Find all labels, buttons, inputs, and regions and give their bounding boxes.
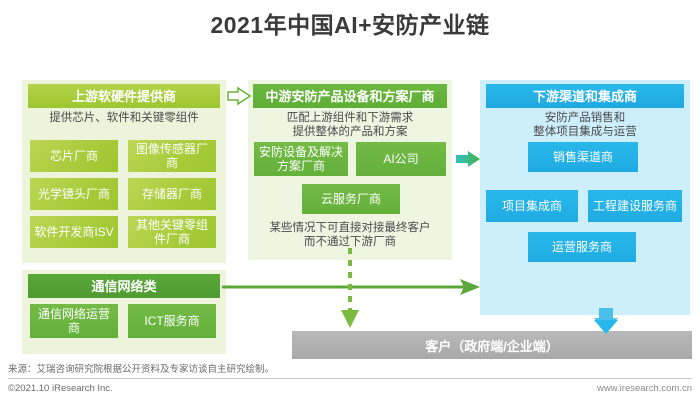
telecom-item-network-operators[interactable]: 通信网络运营商 — [30, 304, 118, 338]
arrow-upstream-to-midstream — [228, 88, 250, 104]
midstream-item-security-equipment-solutions[interactable]: 安防设备及解决方案厂商 — [254, 142, 348, 176]
upstream-item-optical-lens-vendors[interactable]: 光学镜头厂商 — [30, 178, 118, 210]
midstream-item-cloud-service-vendors[interactable]: 云服务厂商 — [302, 184, 400, 214]
upstream-item-storage-vendors[interactable]: 存储器厂商 — [128, 178, 216, 210]
upstream-header: 上游软硬件提供商 — [28, 84, 220, 108]
infographic-canvas: 2021年中国AI+安防产业链 上游软硬件提供商 提供芯片、软件和关键零组件 芯… — [0, 0, 700, 407]
downstream-item-sales-channels[interactable]: 销售渠道商 — [528, 142, 638, 172]
downstream-item-operation-services[interactable]: 运营服务商 — [528, 232, 636, 262]
website-text: www.iresearch.com.cn — [597, 383, 692, 394]
upstream-item-other-components[interactable]: 其他关键零组件厂商 — [128, 216, 216, 248]
upstream-item-image-sensor-vendors[interactable]: 图像传感器厂商 — [128, 140, 216, 172]
arrow-midstream-to-downstream — [456, 151, 480, 167]
source-note: 来源：艾瑞咨询研究院根据公开资料及专家访谈自主研究绘制。 — [8, 361, 274, 375]
midstream-note: 某些情况下可直接对接最终客户而不通过下游厂商 — [250, 221, 450, 249]
upstream-item-chip-vendors[interactable]: 芯片厂商 — [30, 140, 118, 172]
telecom-item-ict-providers[interactable]: ICT服务商 — [128, 304, 216, 338]
arrow-midstream-to-customer-dashed — [341, 248, 359, 328]
page-title: 2021年中国AI+安防产业链 — [0, 8, 700, 42]
downstream-header: 下游渠道和集成商 — [486, 84, 684, 108]
midstream-subtitle: 匹配上游组件和下游需求提供整体的产品和方案 — [250, 111, 450, 139]
upstream-subtitle: 提供芯片、软件和关键零组件 — [24, 111, 224, 125]
downstream-item-engineering-services[interactable]: 工程建设服务商 — [588, 190, 682, 222]
footer-divider — [8, 378, 692, 379]
customer-bar: 客户（政府端/企业端） — [292, 331, 692, 359]
midstream-header: 中游安防产品设备和方案厂商 — [253, 84, 447, 108]
copyright-text: ©2021.10 iResearch Inc. — [8, 383, 113, 394]
upstream-item-software-isv[interactable]: 软件开发商ISV — [30, 216, 118, 248]
downstream-item-project-integrators[interactable]: 项目集成商 — [486, 190, 578, 222]
telecom-header: 通信网络类 — [28, 274, 220, 298]
arrow-telecom-to-downstream — [222, 279, 480, 295]
midstream-item-ai-companies[interactable]: AI公司 — [356, 142, 446, 176]
downstream-subtitle: 安防产品销售和整体项目集成与运营 — [482, 111, 688, 139]
